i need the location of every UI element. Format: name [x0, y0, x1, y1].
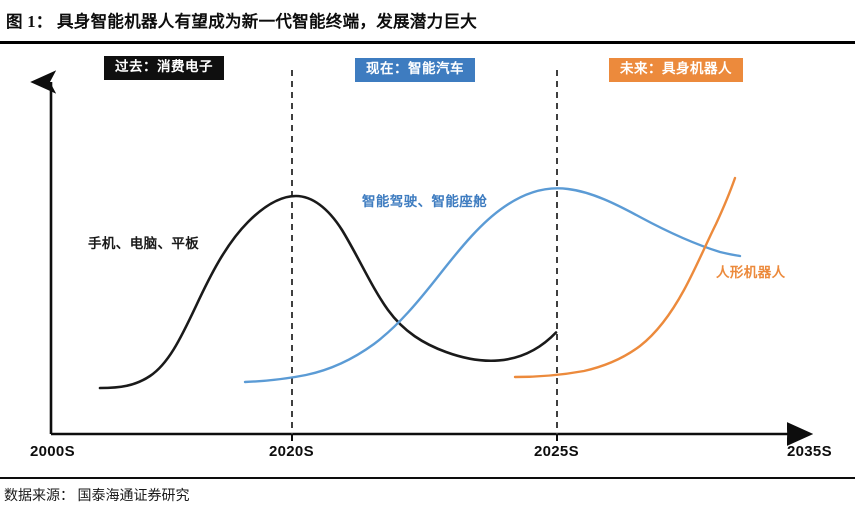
x-axis-label-2020s: 2020S	[269, 443, 314, 460]
x-axis-label-2000s: 2000S	[30, 443, 75, 460]
x-axis-label-2025s: 2025S	[534, 443, 579, 460]
legend-badge-past: 过去：消费电子	[104, 56, 224, 80]
x-axis-label-2035s: 2035S	[787, 443, 832, 460]
figure-title: 图 1： 具身智能机器人有望成为新一代智能终端，发展潜力巨大	[6, 8, 477, 32]
legend-badge-now: 现在：智能汽车	[355, 58, 475, 82]
series-label-consumer-electronics: 手机、电脑、平板	[88, 232, 199, 252]
footer-divider	[0, 477, 855, 479]
series-line-consumer-electronics	[100, 196, 556, 388]
series-line-smart-auto	[245, 188, 740, 382]
source-note: 数据来源： 国泰海通证券研究	[4, 485, 190, 505]
series-label-smart-auto: 智能驾驶、智能座舱	[362, 190, 487, 210]
legend-badge-future: 未来：具身机器人	[609, 58, 743, 82]
chart-plot-area	[0, 44, 855, 472]
series-label-humanoid-robot: 人形机器人	[716, 261, 786, 281]
